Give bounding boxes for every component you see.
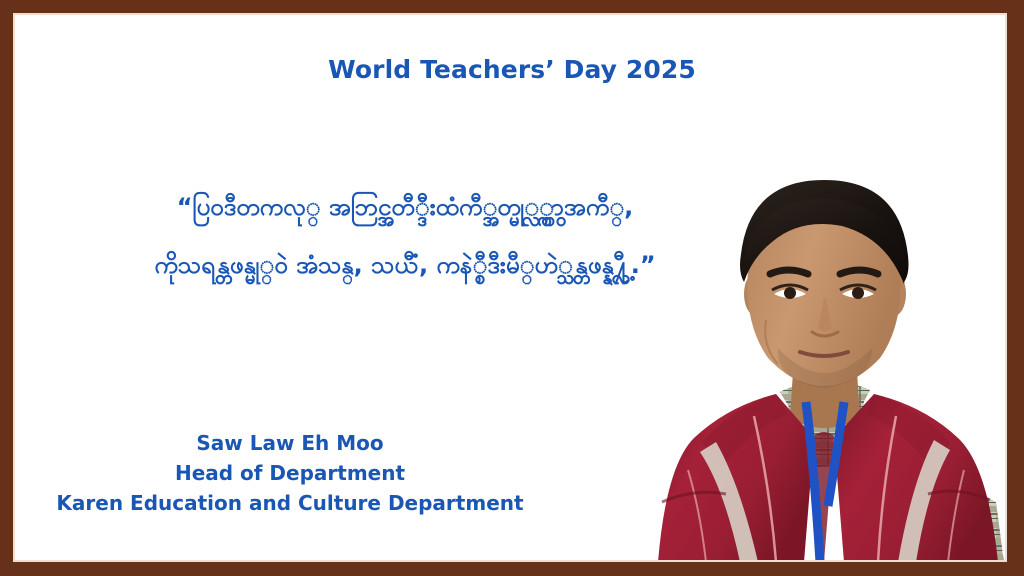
attribution-name: Saw Law Eh Moo [40, 428, 540, 458]
attribution-role: Head of Department [40, 458, 540, 488]
frame-border-right [1007, 0, 1024, 576]
quote-line-2: ကိုသရန္တဖန္မု္ဝဲ အံသန္, သယီံ, ကနဲ္စီဒီးမ… [60, 236, 750, 294]
frame-border-left [0, 0, 13, 576]
frame-inner-line-bottom [13, 560, 1007, 562]
frame-inner-line-left [13, 13, 15, 562]
attribution-block: Saw Law Eh Moo Head of Department Karen … [40, 428, 540, 518]
quote-line-1: “ပြ၀ဒီတကလု္ အဘြင္အတီ္ဒီးထံကီ္အတ္မု္လ္ကွ္… [60, 178, 750, 236]
quote-block: “ပြ၀ဒီတကလု္ အဘြင္အတီ္ဒီးထံကီ္အတ္မု္လ္ကွ္… [60, 178, 750, 294]
frame-inner-line-top [13, 13, 1007, 15]
frame-border-bottom [0, 562, 1024, 576]
attribution-organization: Karen Education and Culture Department [40, 488, 540, 518]
frame-inner-line-right [1005, 13, 1007, 562]
slide-canvas: World Teachers’ Day 2025 “ပြ၀ဒီတကလု္ အဘြ… [0, 0, 1024, 576]
page-title: World Teachers’ Day 2025 [0, 55, 1024, 84]
frame-border-top [0, 0, 1024, 13]
